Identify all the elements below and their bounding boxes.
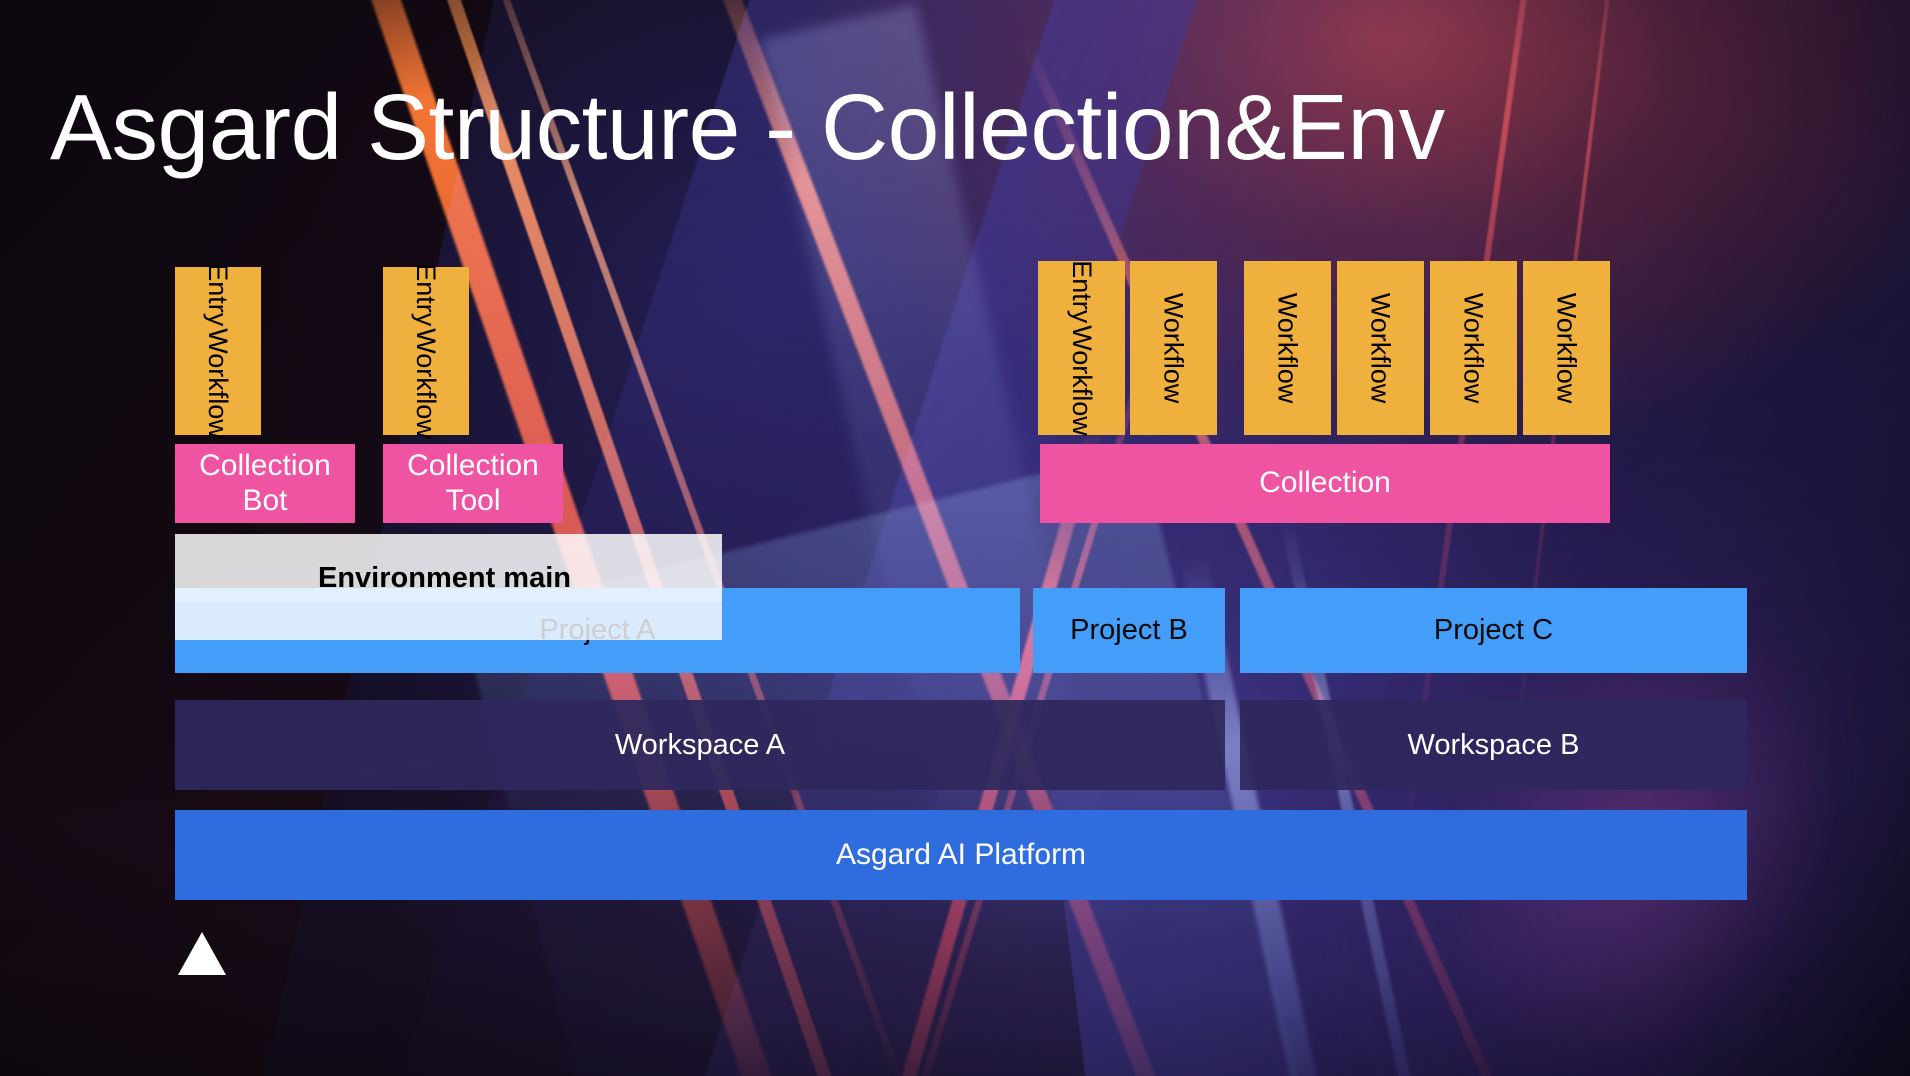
workflow-entry-box-left-1[interactable]: Workflow Entry: [175, 267, 261, 435]
slide-content: Asgard Structure - Collection&Env Workfl…: [0, 0, 1910, 1076]
collection-bar[interactable]: Collection: [1040, 444, 1610, 523]
workspace-b-bar[interactable]: Workspace B: [1240, 700, 1747, 790]
workflow-label: Workflow: [1366, 293, 1394, 404]
page-title: Asgard Structure - Collection&Env: [50, 77, 1445, 177]
workspace-a-label: Workspace A: [615, 729, 785, 762]
environment-main-box-lower[interactable]: [175, 602, 722, 640]
slide-canvas: Asgard Structure - Collection&Env Workfl…: [0, 0, 1910, 1076]
workflow-label: Workflow: [1459, 293, 1487, 404]
workflow-box-right-3[interactable]: Workflow: [1244, 261, 1331, 435]
collection-bar-label: Collection: [1259, 466, 1391, 500]
platform-bar[interactable]: Asgard AI Platform: [175, 810, 1747, 900]
project-c-bar[interactable]: Project C: [1240, 588, 1747, 673]
environment-main-box-upper[interactable]: Environment main: [175, 534, 722, 602]
triangle-up-icon[interactable]: [178, 932, 226, 975]
workflow-entry-label-line1: Workflow: [412, 328, 440, 439]
workflow-entry-box-left-2[interactable]: Workflow Entry: [383, 267, 469, 435]
collection-tool-label: Collection Tool: [383, 449, 563, 517]
collection-tool-box[interactable]: Collection Tool: [383, 444, 563, 523]
workspace-a-bar[interactable]: Workspace A: [175, 700, 1225, 790]
workflow-label: Workflow: [1159, 293, 1187, 404]
collection-bot-label: Collection Bot: [175, 449, 355, 517]
workflow-label: Workflow: [1273, 293, 1301, 404]
environment-main-label: Environment main: [318, 562, 571, 595]
collection-bot-box[interactable]: Collection Bot: [175, 444, 355, 523]
platform-label: Asgard AI Platform: [836, 838, 1086, 872]
workflow-entry-label-line2: Entry: [204, 263, 232, 326]
workflow-entry-box-right-1[interactable]: Workflow Entry: [1038, 261, 1125, 435]
workspace-b-label: Workspace B: [1408, 729, 1580, 762]
project-b-bar[interactable]: Project B: [1033, 588, 1225, 673]
workflow-entry-label-line2: Entry: [412, 263, 440, 326]
project-b-label: Project B: [1070, 614, 1188, 647]
workflow-label-line1: Workflow: [1067, 325, 1095, 436]
workflow-label-line2: Entry: [1067, 260, 1095, 323]
workflow-label: Workflow: [1552, 293, 1580, 404]
workflow-box-right-4[interactable]: Workflow: [1337, 261, 1424, 435]
workflow-box-right-5[interactable]: Workflow: [1430, 261, 1517, 435]
workflow-box-right-2[interactable]: Workflow: [1130, 261, 1217, 435]
workflow-entry-label-line1: Workflow: [204, 328, 232, 439]
workflow-box-right-6[interactable]: Workflow: [1523, 261, 1610, 435]
project-c-label: Project C: [1434, 614, 1553, 647]
